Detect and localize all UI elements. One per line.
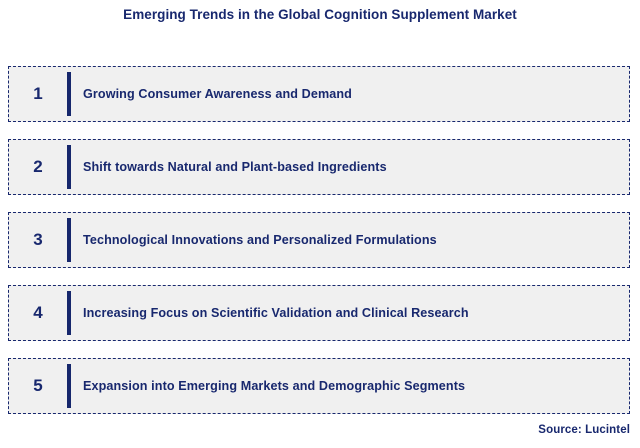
- trend-number: 1: [9, 85, 67, 103]
- trend-number: 3: [9, 231, 67, 249]
- trend-list: 1 Growing Consumer Awareness and Demand …: [8, 66, 630, 414]
- page-title: Emerging Trends in the Global Cognition …: [0, 6, 640, 24]
- list-item[interactable]: 2 Shift towards Natural and Plant-based …: [8, 139, 630, 195]
- trend-number: 4: [9, 304, 67, 322]
- trend-label: Increasing Focus on Scientific Validatio…: [71, 305, 629, 321]
- list-item[interactable]: 5 Expansion into Emerging Markets and De…: [8, 358, 630, 414]
- trend-number: 2: [9, 158, 67, 176]
- trend-number: 5: [9, 377, 67, 395]
- trend-label: Growing Consumer Awareness and Demand: [71, 86, 629, 102]
- list-item[interactable]: 1 Growing Consumer Awareness and Demand: [8, 66, 630, 122]
- list-item[interactable]: 4 Increasing Focus on Scientific Validat…: [8, 285, 630, 341]
- trend-label: Expansion into Emerging Markets and Demo…: [71, 378, 629, 394]
- trend-label: Technological Innovations and Personaliz…: [71, 232, 629, 248]
- source-note: Source: Lucintel: [538, 424, 630, 436]
- trend-label: Shift towards Natural and Plant-based In…: [71, 159, 629, 175]
- trends-infographic: Emerging Trends in the Global Cognition …: [0, 0, 640, 448]
- list-item[interactable]: 3 Technological Innovations and Personal…: [8, 212, 630, 268]
